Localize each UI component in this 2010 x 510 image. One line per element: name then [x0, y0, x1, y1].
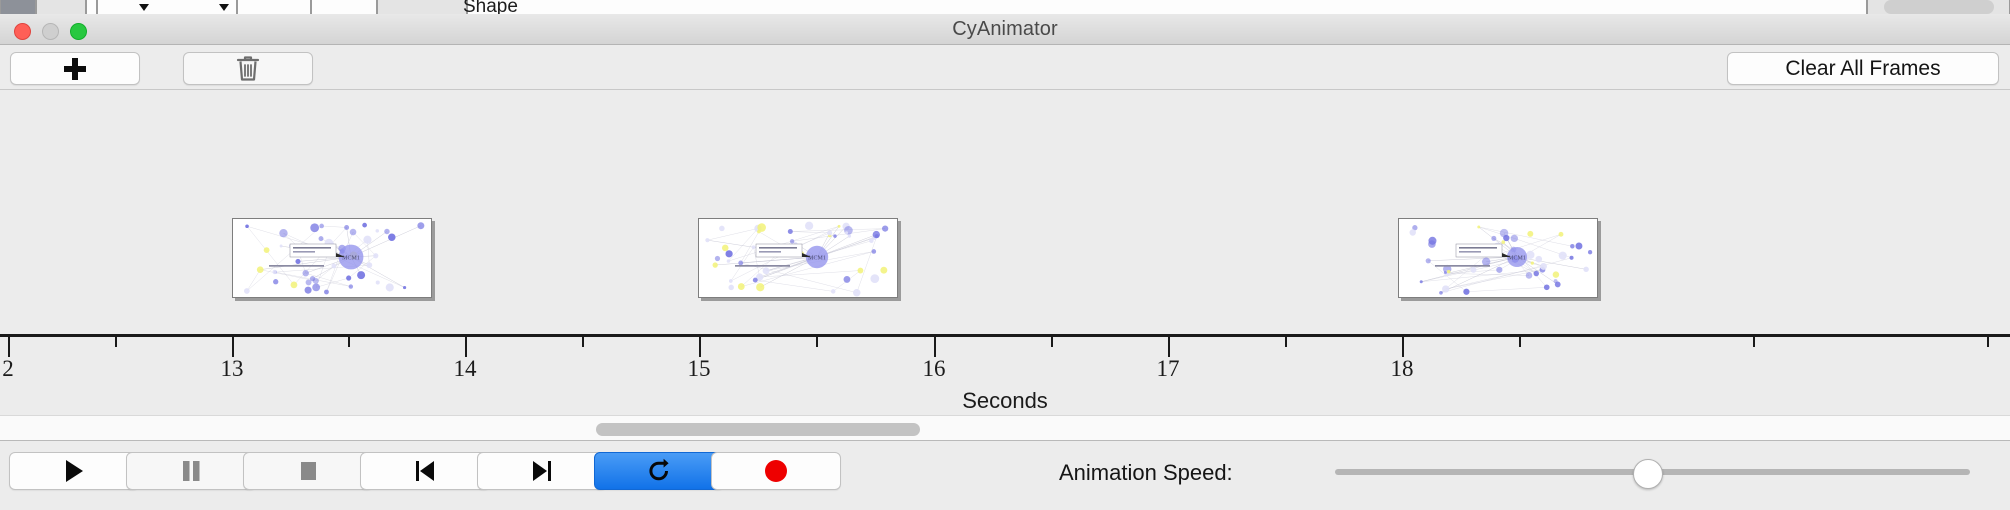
timeline-scrollbar-track[interactable]	[0, 415, 2010, 441]
add-frame-button[interactable]	[10, 52, 140, 85]
svg-text:MCM1: MCM1	[1508, 255, 1526, 261]
bg-tab-6	[311, 0, 377, 14]
axis-tick-label: 16	[923, 356, 946, 382]
record-button[interactable]	[711, 452, 841, 490]
axis-title: Seconds	[0, 388, 2010, 414]
loop-button[interactable]	[594, 452, 724, 490]
frame-thumbnail[interactable]: MCM1	[1398, 218, 1598, 298]
delete-frame-button[interactable]	[183, 52, 313, 85]
frame-thumbnail[interactable]: MCM1	[232, 218, 432, 298]
axis-tick-minor	[1051, 337, 1053, 347]
axis-tick-label: 17	[1157, 356, 1180, 382]
play-icon	[63, 459, 85, 483]
bg-tab-8	[467, 0, 1867, 14]
svg-text:MCM1: MCM1	[342, 255, 360, 261]
axis-tick-label: 2	[2, 356, 14, 382]
network-thumbnail-graphic: MCM1	[233, 219, 432, 298]
bg-tab-2	[36, 0, 86, 14]
axis-tick-label: 13	[221, 356, 244, 382]
axis-tick-major	[465, 337, 467, 357]
toolbar: Clear All Frames	[0, 45, 2010, 90]
svg-text:MCM1: MCM1	[808, 255, 826, 261]
animation-speed-label: Animation Speed:	[1059, 460, 1233, 486]
loop-icon	[646, 458, 672, 484]
bg-tab-7	[377, 0, 467, 14]
axis-tick-minor	[816, 337, 818, 347]
bg-tab-1	[0, 0, 36, 14]
timeline-axis	[0, 334, 2010, 337]
trash-icon	[236, 55, 260, 82]
axis-tick-major	[8, 337, 10, 357]
plus-icon	[64, 58, 86, 80]
network-thumbnail-graphic: MCM1	[1399, 219, 1598, 298]
pause-button[interactable]	[126, 452, 256, 490]
cyanimator-window: Shape CyAnimator Clear All Frames MCM1 M…	[0, 0, 2010, 510]
axis-tick-major	[1168, 337, 1170, 357]
axis-tick-minor	[348, 337, 350, 347]
axis-tick-minor	[1285, 337, 1287, 347]
pause-icon	[180, 459, 202, 483]
skip-to-end-icon	[530, 459, 554, 483]
axis-tick-minor	[582, 337, 584, 347]
skip-to-start-icon	[413, 459, 437, 483]
window-title: CyAnimator	[0, 18, 2010, 41]
record-icon	[763, 458, 789, 484]
stop-button[interactable]	[243, 452, 373, 490]
axis-tick-major	[1402, 337, 1404, 357]
play-button[interactable]	[9, 452, 139, 490]
axis-tick-major	[934, 337, 936, 357]
background-scrollbar	[1884, 0, 1994, 14]
background-shape-label: Shape	[463, 0, 518, 14]
clear-all-frames-button[interactable]: Clear All Frames	[1727, 52, 1999, 85]
skip-to-end-button[interactable]	[477, 452, 607, 490]
axis-tick-minor	[1987, 337, 1989, 347]
axis-tick-minor	[1753, 337, 1755, 347]
bg-tab-3	[86, 0, 97, 14]
playback-control-bar: Animation Speed:	[0, 442, 2010, 510]
bg-tab-4	[97, 0, 237, 14]
timeline-scrollbar-thumb[interactable]	[596, 423, 920, 436]
stop-icon	[297, 459, 319, 483]
axis-tick-minor	[1519, 337, 1521, 347]
axis-tick-label: 14	[454, 356, 477, 382]
background-window-strip: Shape	[0, 0, 2010, 14]
skip-to-start-button[interactable]	[360, 452, 490, 490]
network-thumbnail-graphic: MCM1	[699, 219, 898, 298]
chevron-down-icon-2	[219, 4, 229, 11]
axis-tick-major	[699, 337, 701, 357]
animation-speed-slider-thumb[interactable]	[1633, 459, 1663, 489]
axis-tick-major	[232, 337, 234, 357]
axis-tick-label: 15	[688, 356, 711, 382]
axis-tick-minor	[115, 337, 117, 347]
frame-thumbnail[interactable]: MCM1	[698, 218, 898, 298]
timeline-panel[interactable]: MCM1 MCM1 MCM1 2131415161718 Seconds	[0, 90, 2010, 415]
title-bar: CyAnimator	[0, 14, 2010, 45]
bg-tab-5	[237, 0, 311, 14]
chevron-down-icon	[139, 4, 149, 11]
axis-tick-label: 18	[1391, 356, 1414, 382]
